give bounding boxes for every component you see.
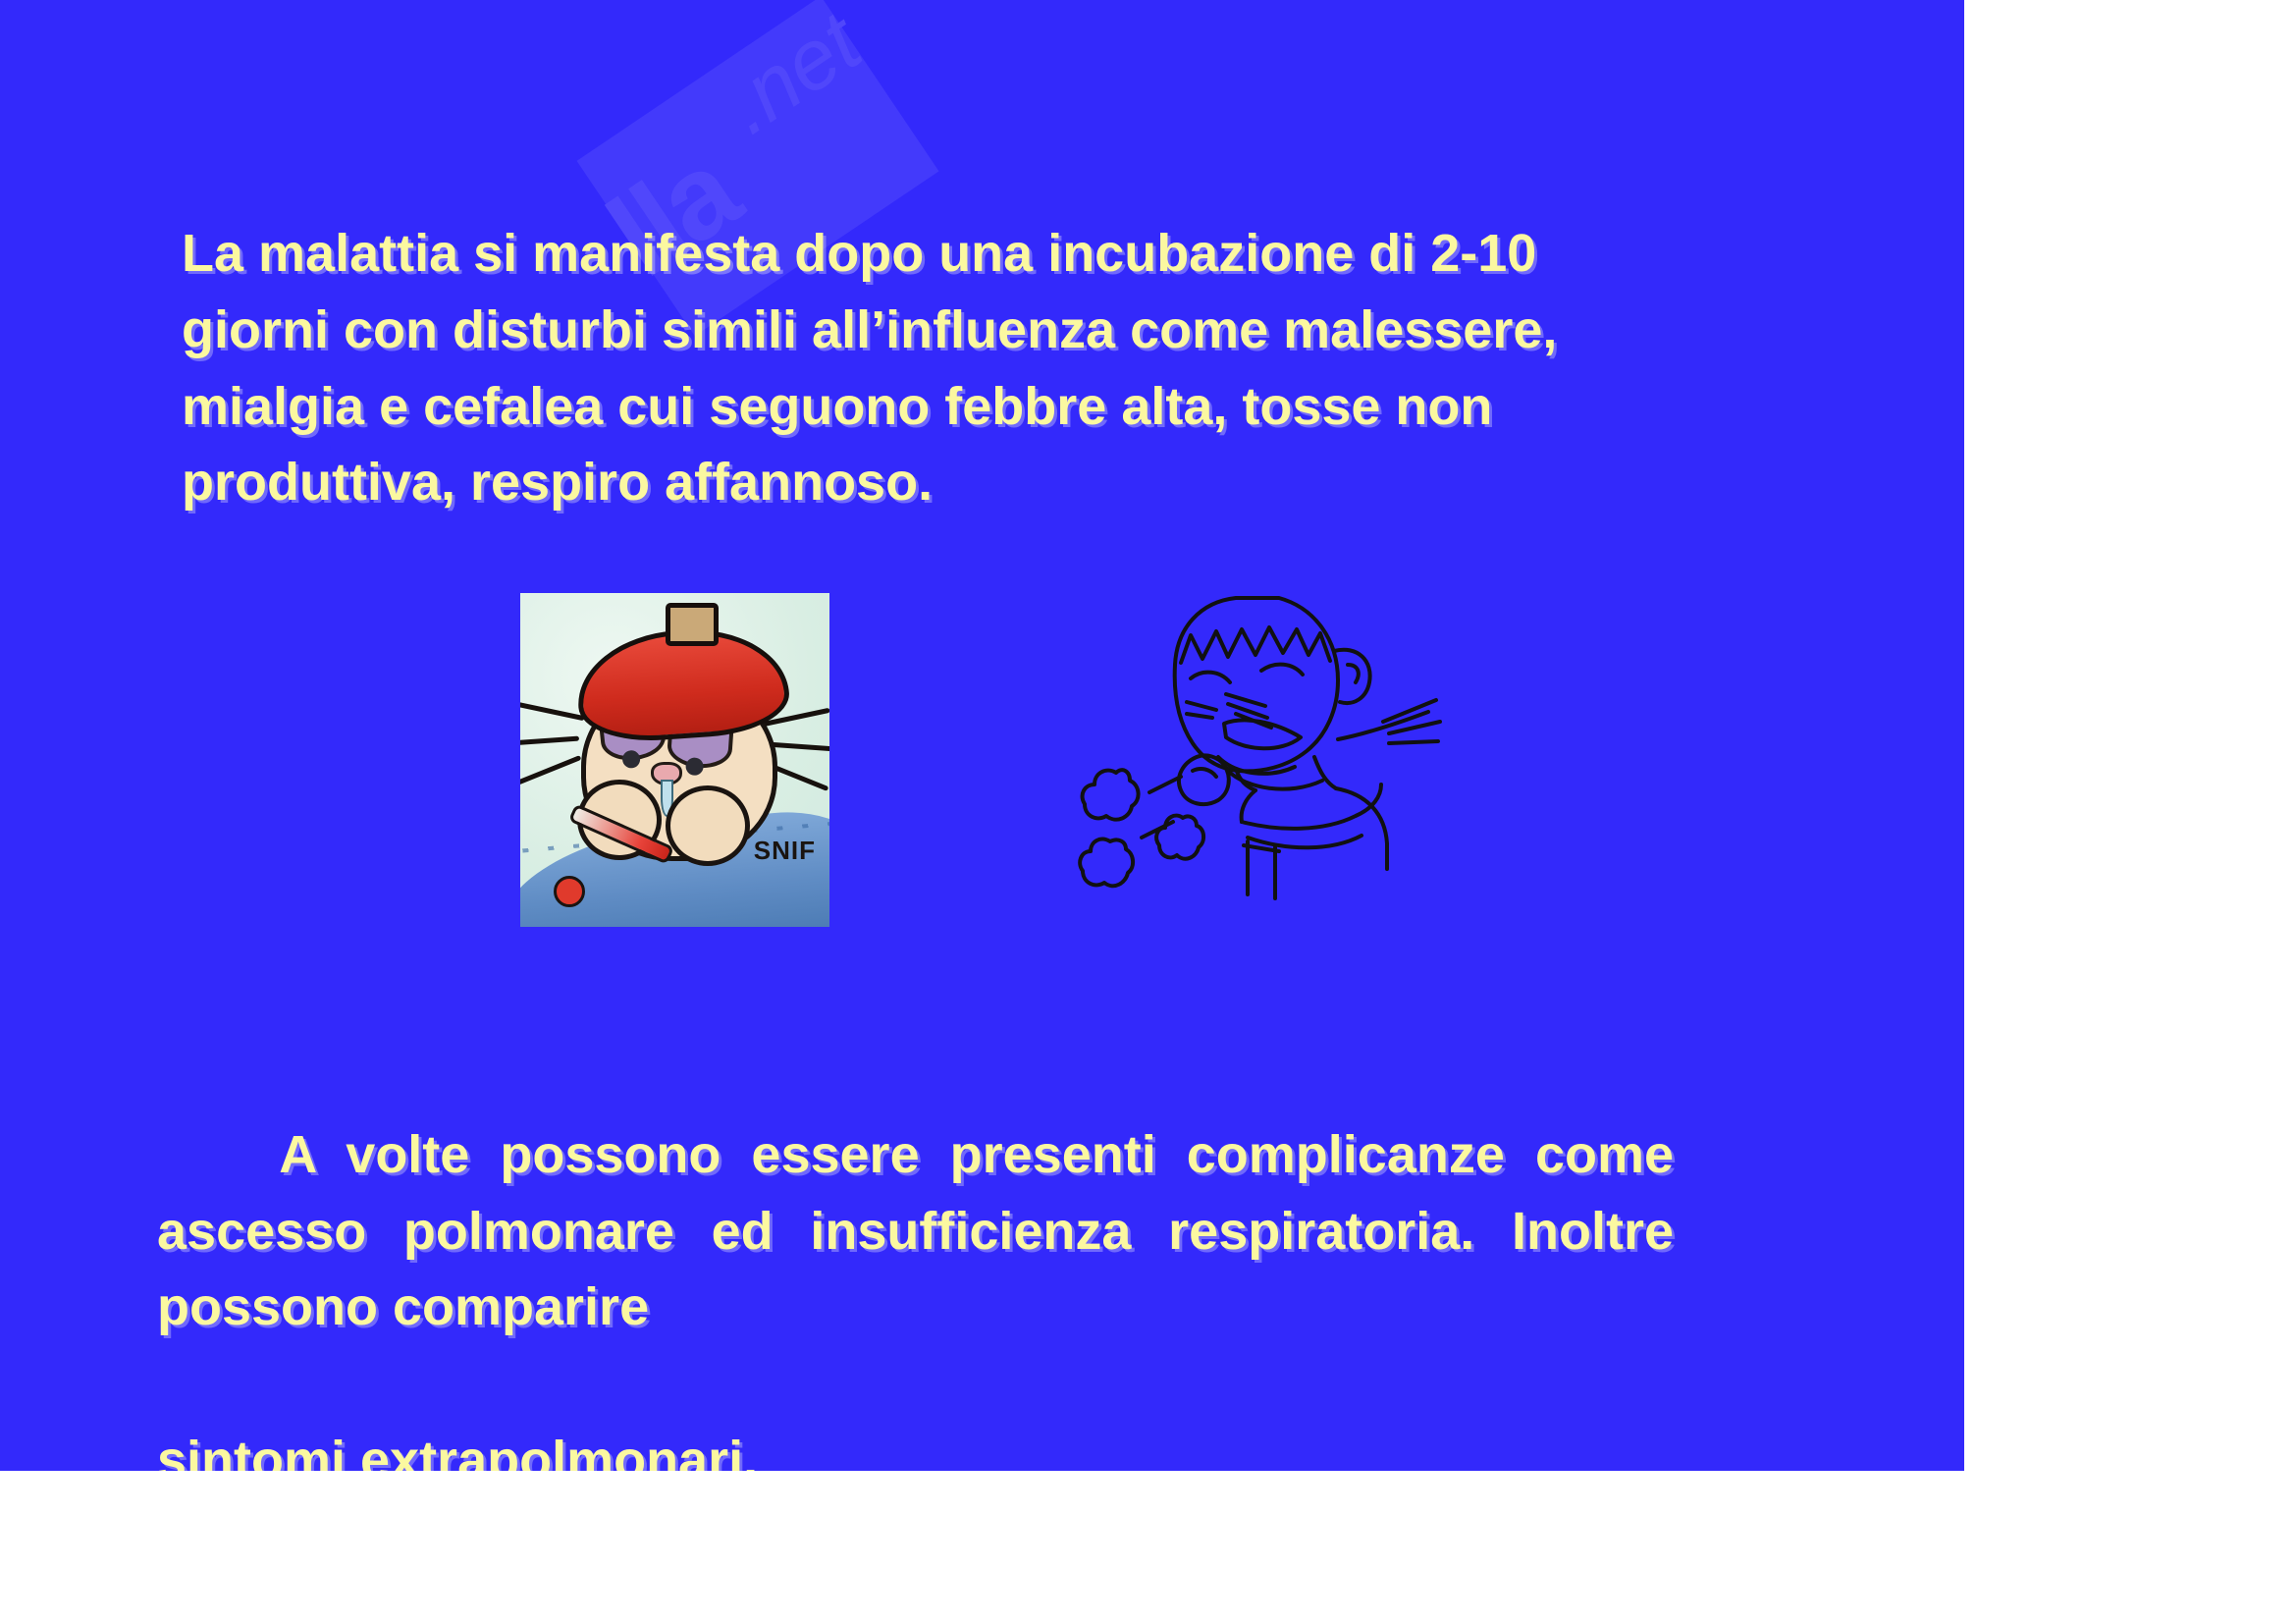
watermark-text-secondary: .net bbox=[707, 0, 878, 153]
ice-bag-cap bbox=[666, 603, 719, 646]
hair-icon bbox=[1181, 627, 1330, 663]
snif-caption: SNIF bbox=[754, 836, 816, 866]
slide-panel: lla .net La malattia si manifesta dopo u… bbox=[0, 0, 1964, 1471]
figure-coughing-person bbox=[1043, 574, 1456, 918]
eye-right-closed bbox=[1261, 665, 1303, 675]
ear-inner bbox=[1348, 665, 1359, 682]
eye-left-closed bbox=[1191, 673, 1230, 682]
cough-puff-icon bbox=[1080, 839, 1133, 887]
thermometer-bulb bbox=[554, 876, 585, 907]
forearm bbox=[1242, 784, 1381, 829]
knuckle-line bbox=[1193, 769, 1216, 777]
cat-cheek-right bbox=[666, 785, 750, 866]
paragraph-complications-last: sintomi extrapolmonari. bbox=[157, 1423, 1674, 1471]
shoulder-right bbox=[1336, 788, 1387, 869]
squint-lines bbox=[1187, 702, 1216, 718]
fist-outline bbox=[1179, 755, 1229, 804]
fingers-right bbox=[1383, 700, 1440, 743]
head-outline bbox=[1175, 598, 1338, 771]
paragraph-complications-main: A volte possono essere presenti complica… bbox=[157, 1125, 1688, 1337]
paragraph-symptoms: La malattia si manifesta dopo una incuba… bbox=[182, 216, 1585, 521]
figure-sick-cat: SNIF bbox=[520, 593, 829, 927]
shoulder-left bbox=[1242, 790, 1255, 822]
forearm-lower bbox=[1248, 836, 1362, 847]
paragraph-complications: A volte possono essere presenti complica… bbox=[157, 1041, 1674, 1471]
cough-puff-icon bbox=[1083, 770, 1139, 819]
coughing-person-drawing bbox=[1043, 574, 1456, 918]
cough-puff-icon bbox=[1156, 816, 1203, 859]
